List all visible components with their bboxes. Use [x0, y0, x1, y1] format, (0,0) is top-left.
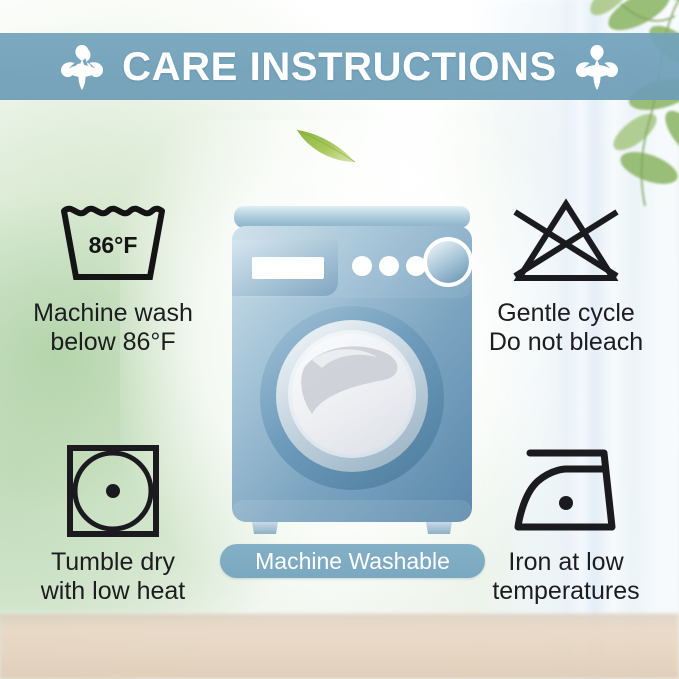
- care-symbol-tumble-dry: Tumble dry with low heat: [8, 445, 218, 606]
- washing-machine-illustration: [226, 200, 478, 536]
- fleur-de-lis-icon-right: [571, 43, 623, 91]
- page-title: CARE INSTRUCTIONS: [122, 47, 557, 87]
- tumble-dry-icon: [65, 445, 161, 537]
- wash-temperature-value: 86°F: [89, 232, 138, 258]
- floating-leaf-icon: [293, 124, 359, 166]
- care-symbol-machine-wash: 86°F Machine wash below 86°F: [8, 196, 218, 357]
- machine-washable-badge: Machine Washable: [220, 544, 485, 578]
- care-symbol-caption: Gentle cycle Do not bleach: [489, 299, 643, 357]
- fleur-de-lis-icon-left: [56, 43, 108, 91]
- care-symbol-caption: Machine wash below 86°F: [33, 299, 193, 357]
- background-wood-table: [0, 614, 679, 679]
- care-symbol-do-not-bleach: Gentle cycle Do not bleach: [461, 196, 671, 357]
- bleach-triangle-crossed-icon: [507, 196, 625, 288]
- wash-tub-icon: 86°F: [58, 196, 168, 288]
- header-banner: CARE INSTRUCTIONS: [0, 33, 679, 100]
- care-symbol-caption: Iron at low temperatures: [492, 548, 639, 606]
- care-symbol-iron: Iron at low temperatures: [461, 445, 671, 606]
- machine-washable-badge-label: Machine Washable: [255, 550, 450, 573]
- care-symbol-caption: Tumble dry with low heat: [41, 548, 186, 606]
- care-instructions-card: CARE INSTRUCTIONS: [0, 0, 679, 679]
- iron-icon: [508, 445, 624, 537]
